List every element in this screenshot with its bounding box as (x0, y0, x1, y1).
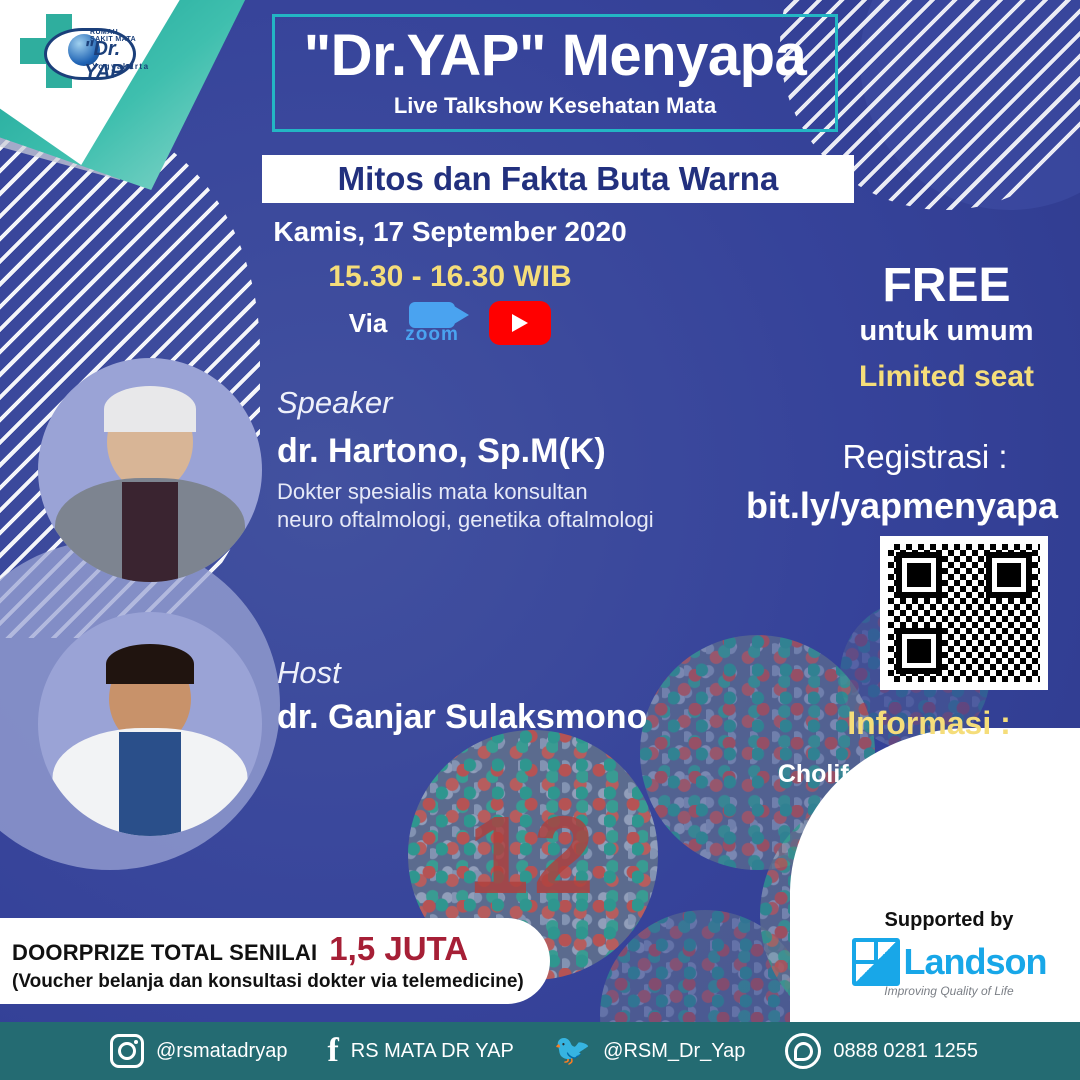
doorprize-banner: DOORPRIZE TOTAL SENILAI 1,5 JUTA (Vouche… (0, 918, 550, 1004)
hospital-logo: RUMAH SAKIT MATA "Dr. YAP" Yogyakarta (12, 8, 142, 94)
free-sub-label: untuk umum (835, 315, 1058, 348)
youtube-logo[interactable] (489, 301, 551, 345)
instagram-icon (110, 1034, 144, 1068)
whatsapp-icon (785, 1033, 821, 1069)
registration-label: Registrasi : (790, 438, 1060, 476)
topic-text: Mitos dan Fakta Buta Warna (338, 160, 779, 198)
information-label: Informasi : (790, 705, 1068, 742)
twitter-icon: 🐦 (554, 1036, 591, 1066)
title-box: "Dr.YAP" Menyapa Live Talkshow Kesehatan… (272, 14, 838, 132)
information-contact: Cholif (089-708-004-77) (760, 760, 1068, 789)
zoom-label: zoom (405, 324, 459, 346)
event-subtitle: Live Talkshow Kesehatan Mata (394, 93, 716, 119)
host-name: dr. Ganjar Sulaksmono (277, 698, 647, 737)
social-instagram[interactable]: @rsmatadryap (110, 1034, 287, 1068)
sponsor-name: Landson (904, 941, 1047, 983)
event-date: Kamis, 17 September 2020 (0, 216, 1080, 248)
play-icon (512, 314, 528, 332)
speaker-role: Speaker (277, 385, 392, 421)
host-role: Host (277, 655, 341, 691)
poster-canvas: 12 RUMAH SAKIT MATA "Dr. YAP" Yogyakarta… (0, 0, 1080, 1080)
instagram-handle: @rsmatadryap (156, 1040, 287, 1063)
twitter-handle: @RSM_Dr_Yap (603, 1040, 745, 1063)
topic-banner: Mitos dan Fakta Buta Warna (262, 155, 854, 203)
social-twitter[interactable]: 🐦 @RSM_Dr_Yap (554, 1036, 746, 1066)
qr-finder-icon (986, 552, 1032, 598)
qr-finder-icon (896, 552, 942, 598)
landson-mark-icon (852, 938, 900, 986)
speaker-avatar (38, 358, 262, 582)
social-whatsapp[interactable]: 0888 0281 1255 (785, 1033, 978, 1069)
doorprize-label: DOORPRIZE TOTAL SENILAI (12, 940, 317, 966)
supported-by-label: Supported by (834, 909, 1064, 932)
logo-line2: "Dr. YAP" (84, 38, 142, 84)
doorprize-note: (Voucher belanja dan konsultasi dokter v… (12, 971, 550, 993)
logo-line3: Yogyakarta (92, 62, 150, 71)
qr-finder-icon (896, 628, 942, 674)
doorprize-amount: 1,5 JUTA (329, 930, 468, 968)
free-label: FREE (835, 258, 1058, 313)
social-footer: @rsmatadryap f RS MATA DR YAP 🐦 @RSM_Dr_… (0, 1022, 1080, 1080)
registration-url[interactable]: bit.ly/yapmenyapa (740, 485, 1064, 527)
event-title: "Dr.YAP" Menyapa (304, 27, 807, 85)
facebook-handle: RS MATA DR YAP (351, 1040, 514, 1063)
whatsapp-handle: 0888 0281 1255 (833, 1040, 978, 1063)
facebook-icon: f (327, 1036, 338, 1067)
speaker-name: dr. Hartono, Sp.M(K) (277, 432, 606, 471)
limited-seat-label: Limited seat (835, 360, 1058, 394)
zoom-logo[interactable]: zoom (401, 300, 475, 346)
speaker-desc-line2: neuro oftalmologi, genetika oftalmologi (277, 506, 747, 534)
supported-by-block: Supported by Landson Improving Quality o… (834, 909, 1064, 998)
speaker-desc-line1: Dokter spesialis mata konsultan (277, 478, 747, 506)
sponsor-logo: Landson (834, 938, 1064, 986)
qr-code[interactable] (880, 536, 1048, 690)
speaker-description: Dokter spesialis mata konsultan neuro of… (277, 478, 747, 534)
sponsor-tagline: Improving Quality of Life (834, 984, 1064, 998)
social-facebook[interactable]: f RS MATA DR YAP (327, 1036, 513, 1067)
via-label: Via (349, 308, 388, 339)
host-avatar (38, 612, 262, 836)
